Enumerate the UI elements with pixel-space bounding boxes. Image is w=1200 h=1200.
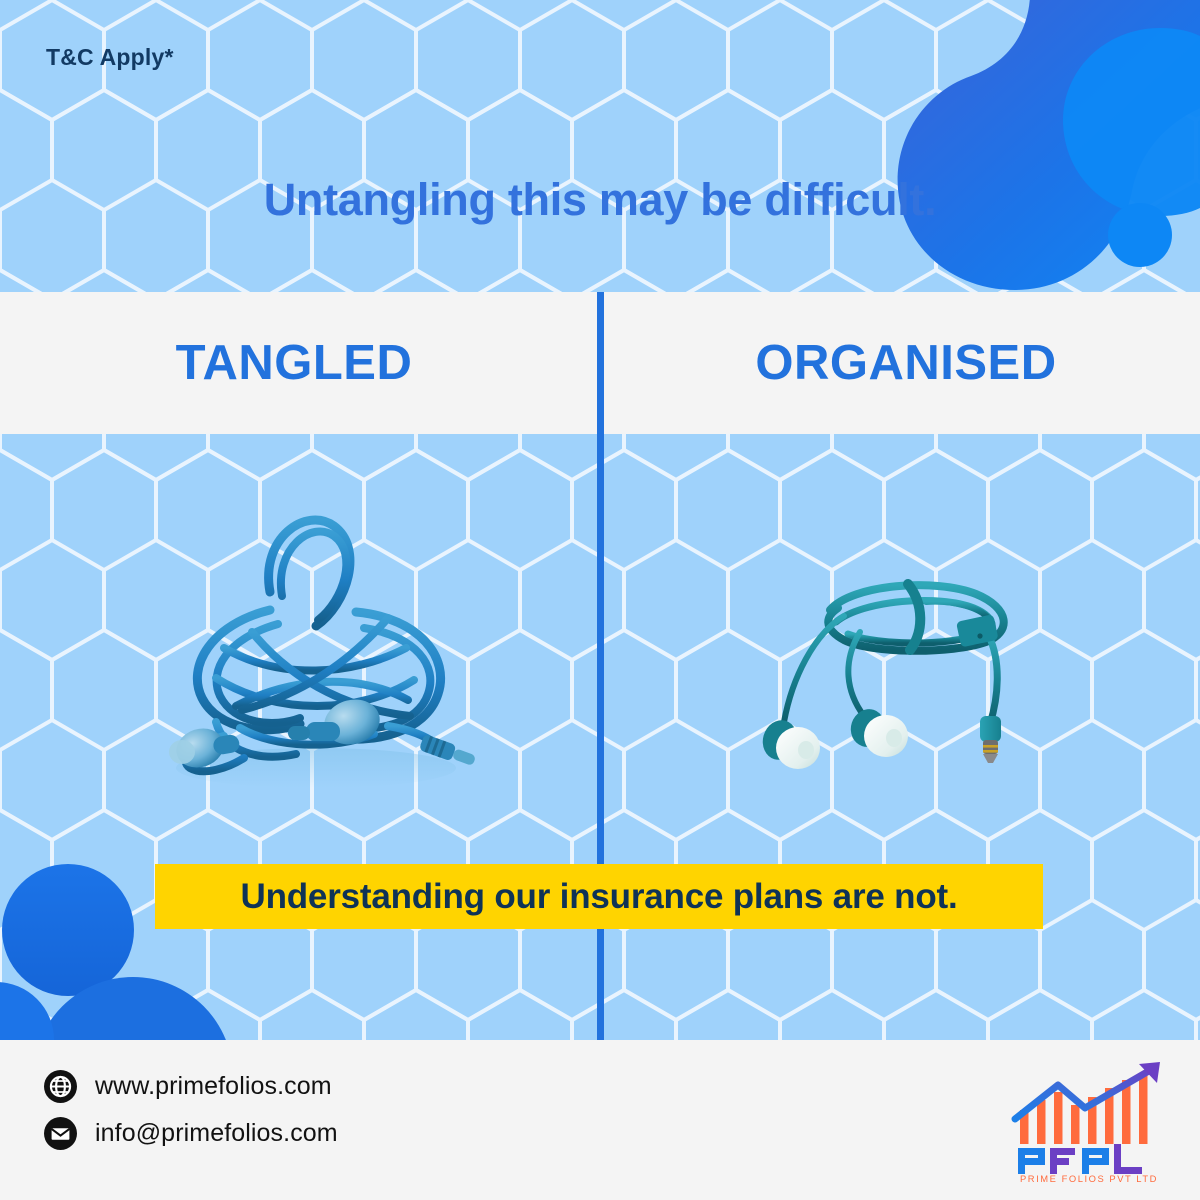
email-text: info@primefolios.com [95,1119,338,1148]
headline-text: Untangling this may be difficult. [0,174,1200,226]
logo-growth-arrow [1015,1068,1154,1119]
tagline-banner: Understanding our insurance plans are no… [155,864,1043,929]
jack-plug [980,716,1001,763]
contact-row-email[interactable]: info@primefolios.com [44,1117,338,1150]
globe-icon [44,1070,77,1103]
contact-list: www.primefolios.com info@primefolios.com [44,1070,338,1150]
tagline-banner-text: Understanding our insurance plans are no… [241,877,958,917]
earbud-right [846,705,908,757]
tangled-earphones-photo [120,500,500,800]
logo-wordmark [1018,1144,1142,1174]
column-label-organised-text: ORGANISED [755,335,1056,391]
organised-earphones-photo [740,550,1060,800]
envelope-icon [44,1117,77,1150]
terms-disclaimer: T&C Apply* [46,44,174,71]
column-label-organised: ORGANISED [600,292,1200,434]
column-label-tangled: TANGLED [0,292,600,434]
column-label-tangled-text: TANGLED [176,335,413,391]
footer: www.primefolios.com info@primefolios.com [0,1040,1200,1200]
website-text: www.primefolios.com [95,1072,332,1101]
earbud-left [758,716,820,769]
creative-canvas: T&C Apply* Untangling this may be diffic… [0,0,1200,1200]
logo-tagline: PRIME FOLIOS PVT LTD [1020,1173,1158,1182]
contact-row-website[interactable]: www.primefolios.com [44,1070,338,1103]
company-logo: PRIME FOLIOS PVT LTD [1006,1062,1174,1182]
